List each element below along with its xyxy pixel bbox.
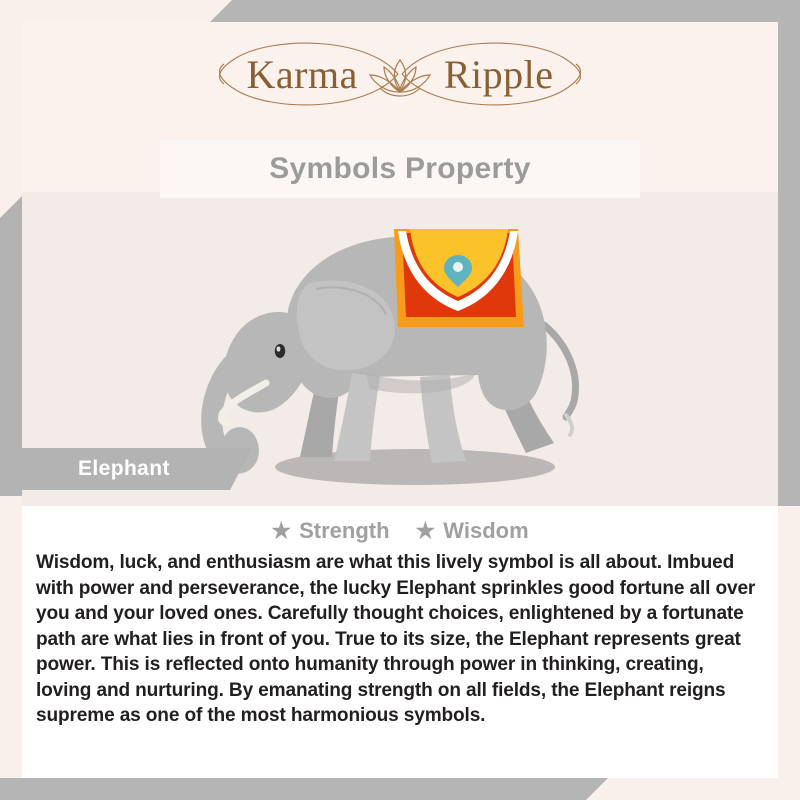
page-title: Symbols Property xyxy=(269,152,531,186)
symbol-label: Elephant xyxy=(78,457,170,481)
star-icon: ★ xyxy=(271,520,291,542)
symbol-label-tab: Elephant xyxy=(0,448,252,490)
frame-accent-bottom-left xyxy=(0,778,608,800)
title-banner: Symbols Property xyxy=(160,140,640,198)
trait-label: Strength xyxy=(299,518,389,544)
trait-item: ★ Wisdom xyxy=(416,518,529,544)
brand-name-left: Karma xyxy=(247,51,358,98)
trait-label: Wisdom xyxy=(443,518,528,544)
star-icon: ★ xyxy=(416,520,436,542)
trait-item: ★ Strength xyxy=(271,518,389,544)
brand-logo: Karma Ripple xyxy=(0,34,800,114)
symbol-card: Karma Ripple Symbols Property xyxy=(0,0,800,800)
content-panel: ★ Strength ★ Wisdom Wisdom, luck, and en… xyxy=(22,506,778,778)
brand-name-right: Ripple xyxy=(444,51,554,98)
frame-accent-top-right xyxy=(210,0,800,22)
traits-list: ★ Strength ★ Wisdom xyxy=(22,518,778,544)
elephant-eye xyxy=(275,344,285,358)
symbol-description: Wisdom, luck, and enthusiasm are what th… xyxy=(36,550,764,729)
